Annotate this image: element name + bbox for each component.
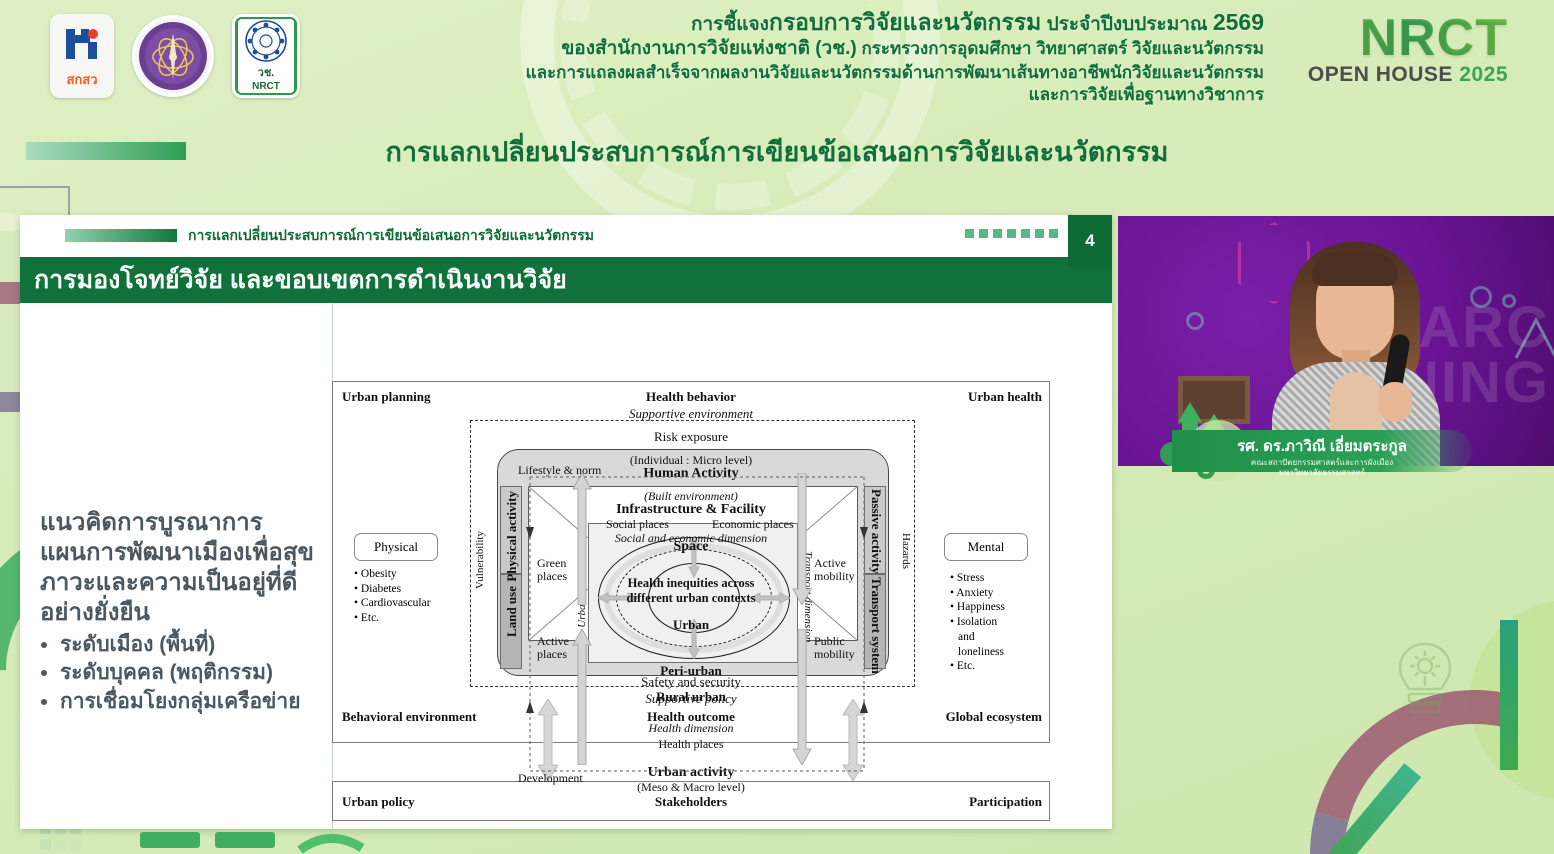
list-item: • Obesity <box>354 567 431 582</box>
speaker-affiliation-2: มหาวิทยาลัยธรรมศาสตร์ <box>1172 468 1472 478</box>
label-stakeholders: Stakeholders <box>655 794 727 810</box>
slide-left-bullets: ระดับเมือง (พื้นที่) ระดับบุคคล (พฤติกรร… <box>60 632 320 715</box>
slide-topbar: การแลกเปลี่ยนประสบการณ์การเขียนข้อเสนอกา… <box>20 215 1112 257</box>
label-vulnerability: Vulnerability <box>474 531 486 589</box>
list-item: loneliness <box>950 645 1005 660</box>
bottom-decorative-strip <box>0 824 1554 854</box>
presentation-slide[interactable]: การแลกเปลี่ยนประสบการณ์การเขียนข้อเสนอกา… <box>20 215 1112 829</box>
logo-tsri-label: สกสว <box>66 69 97 90</box>
conceptual-framework-diagram: Urban planning Health behavior Urban hea… <box>332 381 1050 821</box>
logo-tsri: สกสว <box>50 14 114 98</box>
label-health-behavior: Health behavior <box>646 389 736 405</box>
label-behavioral-environment: Behavioral environment <box>342 709 476 725</box>
header-line-2: ของสำนักงานการวิจัยแห่งชาติ (วช.) กระทรว… <box>526 37 1264 61</box>
lightbulb-gear-icon <box>1390 640 1460 729</box>
list-item: • Etc. <box>950 659 1005 674</box>
slide-title: การมองโจทย์วิจัย และขอบเขตการดำเนินงานวิ… <box>20 257 1112 303</box>
nrct-wordmark: NRCT <box>1308 14 1508 63</box>
list-item: การเชื่อมโยงกลุ่มเครือข่าย <box>60 689 320 715</box>
feedback-loop-dotted <box>510 469 884 779</box>
logo-nrct: วช. NRCT <box>232 14 300 98</box>
logo-group: สกสว <box>50 14 300 98</box>
list-item: • Etc. <box>354 611 431 626</box>
header-line1-year: 2569 <box>1213 9 1264 35</box>
nrct-open-house-sub: OPEN HOUSE 2025 <box>1308 63 1508 87</box>
event-subtitle: การแลกเปลี่ยนประสบการณ์การเขียนข้อเสนอกา… <box>0 130 1554 173</box>
list-item: • Anxiety <box>950 586 1005 601</box>
slide-topbar-dots <box>965 229 1058 238</box>
label-urban-health: Urban health <box>968 389 1042 405</box>
screen: สกสว <box>0 0 1554 854</box>
label-urban-planning: Urban planning <box>342 389 431 405</box>
header-line-4: และการวิจัยเพื่อฐานทางวิชาการ <box>526 84 1264 106</box>
list-item: • Happiness <box>950 600 1005 615</box>
list-item: ระดับเมือง (พื้นที่) <box>60 632 320 658</box>
header-line2-bold: ของสำนักงานการวิจัยแห่งชาติ (วช.) <box>561 38 856 59</box>
list-item: ระดับบุคคล (พฤติกรรม) <box>60 660 320 686</box>
slide-body: แนวคิดการบูรณาการแผนการพัฒนาเมืองเพื่อสุ… <box>20 303 1112 829</box>
list-item: • Stress <box>950 571 1005 586</box>
decorative-ring-small <box>1186 312 1204 330</box>
list-item: • Cardiovascular <box>354 596 431 611</box>
label-urban-policy: Urban policy <box>342 794 415 810</box>
header-line2-rest: กระทรวงการอุดมศึกษา วิทยาศาสตร์ วิจัยและ… <box>857 39 1264 58</box>
mental-items: • Stress • Anxiety • Happiness • Isolati… <box>950 571 1005 674</box>
speaker-nametag: รศ. ดร.ภาวิณี เอี่ยมตระกูล คณะสถาปัตยกรร… <box>1172 430 1472 472</box>
label-supportive-environment: Supportive environment <box>629 406 753 422</box>
slide-topbar-accent <box>65 229 177 242</box>
list-item: and <box>950 630 1005 645</box>
label-meso-macro-level: (Meso & Macro level) <box>637 780 745 795</box>
blouse <box>1330 372 1382 432</box>
label-participation: Participation <box>969 794 1042 810</box>
header-line1-prefix: การชี้แจง <box>691 14 769 35</box>
hand <box>1378 382 1412 422</box>
decorative-bar <box>1500 620 1518 770</box>
open-house-year: 2025 <box>1459 63 1508 86</box>
physical-items: • Obesity • Diabetes • Cardiovascular • … <box>354 567 431 626</box>
open-house-label: OPEN HOUSE <box>1308 63 1459 86</box>
hair-front <box>1312 252 1398 286</box>
label-global-ecosystem: Global ecosystem <box>946 709 1042 725</box>
header-line-1: การชี้แจงกรอบการวิจัยและนวัตกรรม ประจำปี… <box>526 8 1264 37</box>
slide-page-number: 4 <box>1068 215 1112 267</box>
nrct-open-house-logo: NRCT OPEN HOUSE 2025 <box>1308 14 1508 87</box>
logo-nrct-label-en: NRCT <box>252 81 280 92</box>
speaker-affiliation-1: คณะสถาปัตยกรรมศาสตร์และการผังเมือง <box>1172 458 1472 468</box>
header-line1-bold: กรอบการวิจัยและนวัตกรรม <box>769 9 1041 35</box>
page-header: สกสว <box>0 0 1554 122</box>
header-line-3: และการแถลงผลสำเร็จจากผลงานวิจัยและนวัตกร… <box>526 62 1264 84</box>
header-title-block: การชี้แจงกรอบการวิจัยและนวัตกรรม ประจำปี… <box>526 8 1264 105</box>
label-hazards: Hazards <box>900 533 912 569</box>
logo-nrct-label-th: วช. <box>258 63 275 81</box>
list-item: • Isolation <box>950 615 1005 630</box>
slide-left-panel: แนวคิดการบูรณาการแผนการพัฒนาเมืองเพื่อสุ… <box>40 508 320 715</box>
physical-box: Physical <box>354 533 438 561</box>
logo-mahidol <box>132 15 214 97</box>
header-line1-suffix: ประจำปีงบประมาณ <box>1041 14 1213 35</box>
label-risk-exposure: Risk exposure <box>654 429 728 445</box>
list-item: • Diabetes <box>354 582 431 597</box>
slide-left-heading: แนวคิดการบูรณาการแผนการพัฒนาเมืองเพื่อสุ… <box>40 508 320 628</box>
speaker-name: รศ. ดร.ภาวิณี เอี่ยมตระกูล <box>1172 434 1472 458</box>
slide-topbar-text: การแลกเปลี่ยนประสบการณ์การเขียนข้อเสนอกา… <box>188 225 594 247</box>
mental-box: Mental <box>944 533 1028 561</box>
